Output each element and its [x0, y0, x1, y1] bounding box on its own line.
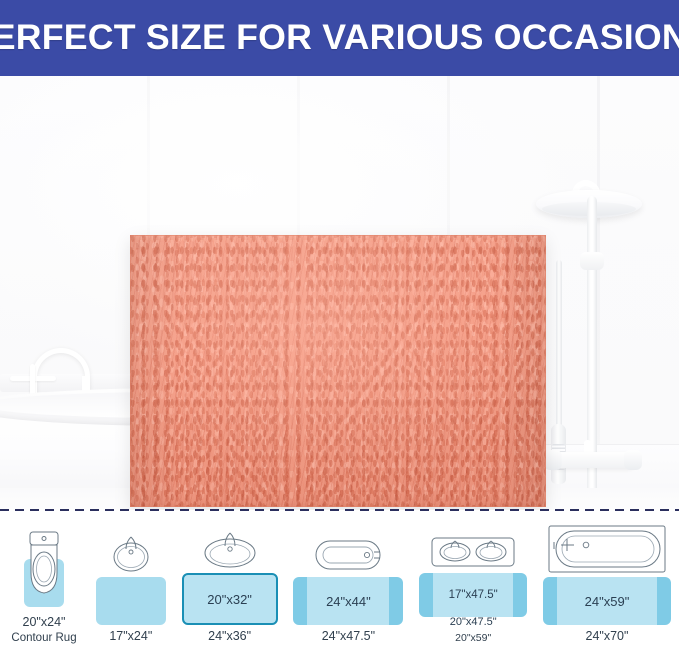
size-caption-main: 24"x36" [208, 629, 251, 643]
rug-swatch: 17"x47.5" [419, 573, 527, 617]
size-caption-main: 24"x47.5" [322, 629, 375, 643]
size-option-24x47-5[interactable]: 24"x44" 24"x47.5" [293, 512, 403, 645]
valve-knob-right-icon [624, 450, 642, 470]
size-option-24x36[interactable]: 20"x32" 24"x36" [182, 512, 278, 645]
coral-bath-rug [130, 235, 546, 507]
swatch-inside-label: 24"x59" [585, 594, 630, 609]
header-banner: PERFECT SIZE FOR VARIOUS OCCASIONS [0, 0, 679, 76]
size-caption-main: 24"x70" [586, 629, 629, 643]
rug-swatch: 24"x59" [543, 577, 671, 625]
size-option-20x59[interactable]: 17"x47.5" 20"x47.5" 20"x59" [419, 512, 527, 645]
size-option-17x24[interactable]: 17"x24" [96, 512, 166, 645]
size-caption: 20"x24" Contour Rug [11, 615, 76, 645]
toilet-icon [8, 529, 80, 609]
round-sink-icon [105, 533, 157, 575]
small-tub-icon [310, 533, 386, 575]
size-caption: 24"x70" [586, 629, 629, 645]
size-caption-main: 20"x24" [23, 615, 66, 629]
bathtub-icon [546, 523, 668, 575]
rug-edge-highlight [130, 235, 546, 507]
banner-title: PERFECT SIZE FOR VARIOUS OCCASIONS [0, 18, 679, 58]
size-option-24x70[interactable]: 24"x59" 24"x70" [543, 512, 671, 645]
size-chart: 20"x24" Contour Rug 17"x24" [0, 512, 679, 649]
swatch-mid-label: 20"x47.5" [450, 616, 497, 628]
size-caption-main: 20"x59" [455, 632, 491, 644]
size-caption: 20"x59" [455, 632, 491, 645]
rug-swatch [96, 577, 166, 625]
hand-shower-hose [556, 260, 562, 436]
bathroom-scene [0, 76, 679, 510]
size-caption: 24"x47.5" [322, 629, 375, 645]
swatch-inside-label: 24"x44" [326, 594, 371, 609]
product-infographic: PERFECT SIZE FOR VARIOUS OCCASIONS [0, 0, 679, 649]
size-caption-sub: Contour Rug [11, 631, 76, 645]
rug-swatch-highlighted: 20"x32" [182, 573, 278, 625]
dashed-divider [0, 509, 679, 511]
size-caption: 17"x24" [109, 629, 152, 645]
shower-bracket-icon [580, 252, 604, 270]
rug-swatch: 24"x44" [293, 577, 403, 625]
swatch-inside-label: 17"x47.5" [449, 589, 498, 601]
size-caption: 24"x36" [208, 629, 251, 645]
double-sink-icon [428, 533, 518, 571]
oval-sink-icon [197, 529, 263, 571]
valve-knob-left-icon [544, 450, 562, 470]
size-caption-main: 17"x24" [109, 629, 152, 643]
size-option-contour-rug[interactable]: 20"x24" Contour Rug [8, 512, 80, 645]
swatch-inside-label: 20"x32" [207, 592, 252, 607]
